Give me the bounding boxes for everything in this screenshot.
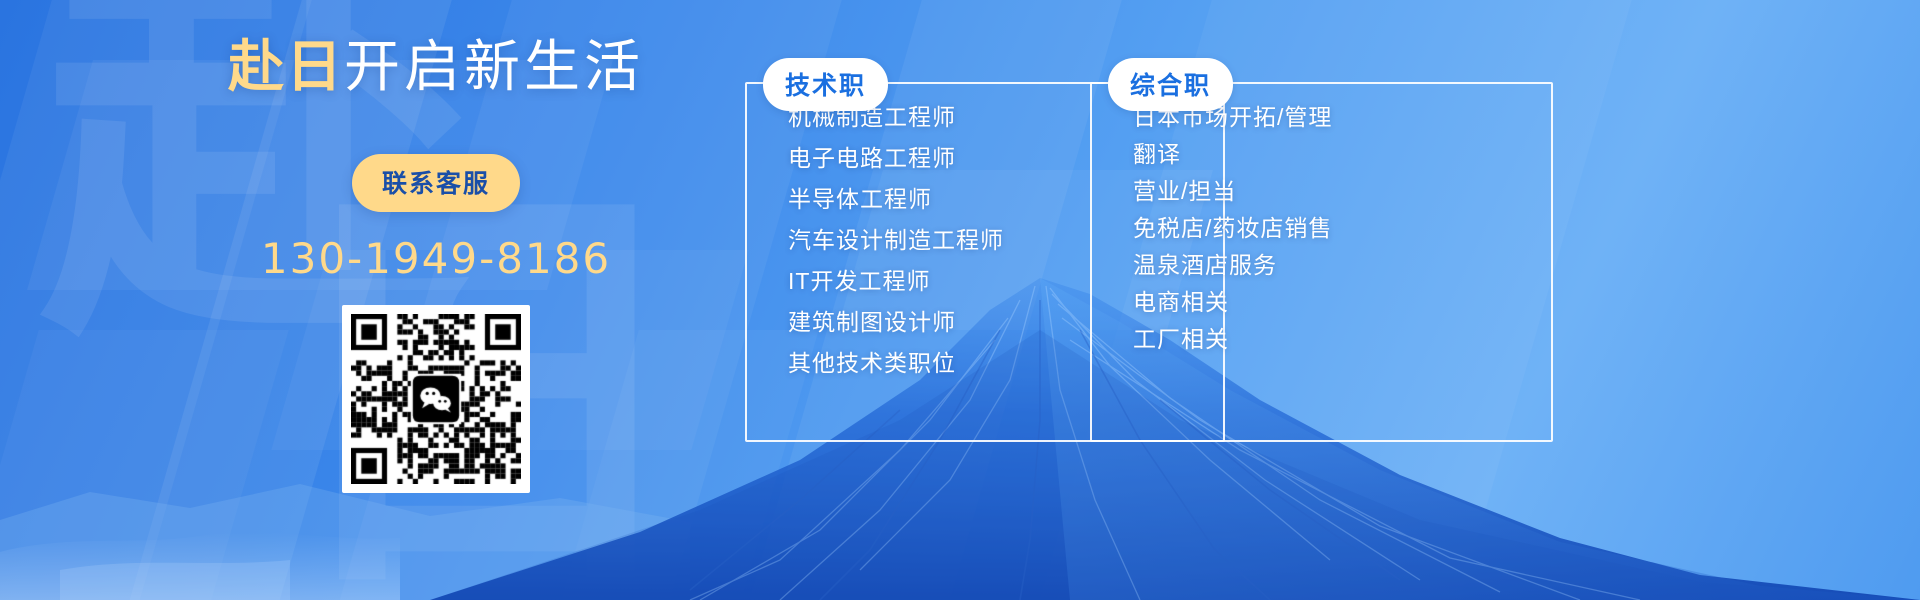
- job-list-item[interactable]: 免税店/药妆店销售: [1133, 217, 1332, 240]
- job-list-item[interactable]: 汽车设计制造工程师: [788, 229, 1004, 252]
- promo-banner: 赴 日: [0, 0, 1920, 600]
- promo-left-column: 赴日开启新生活 联系客服 130-1949-8186: [176, 36, 696, 498]
- page-title: 赴日开启新生活: [176, 36, 696, 98]
- job-group-general: 综合职 日本市场开拓/管理 翻译 营业/担当 免税店/药妆店销售 温泉酒店服务 …: [1090, 58, 1332, 365]
- job-list-item[interactable]: 翻译: [1133, 143, 1332, 166]
- job-list-item[interactable]: 建筑制图设计师: [788, 311, 1004, 334]
- headline-plain: 开启新生活: [344, 35, 644, 98]
- cta-row: 联系客服: [176, 154, 696, 212]
- job-list-item[interactable]: 工厂相关: [1133, 328, 1332, 351]
- job-list-item[interactable]: 营业/担当: [1133, 180, 1332, 203]
- job-group-badge-tech[interactable]: 技术职: [763, 58, 888, 111]
- phone-number[interactable]: 130-1949-8186: [176, 234, 696, 283]
- wechat-qr-code[interactable]: [342, 305, 530, 493]
- job-list-item[interactable]: 电商相关: [1133, 291, 1332, 314]
- job-group-tech: 技术职 机械制造工程师 电子电路工程师 半导体工程师 汽车设计制造工程师 IT开…: [745, 58, 1004, 393]
- qr-code-canvas[interactable]: [351, 314, 521, 484]
- job-list-item[interactable]: 电子电路工程师: [788, 147, 1004, 170]
- job-list-item[interactable]: 温泉酒店服务: [1133, 254, 1332, 277]
- contact-support-button[interactable]: 联系客服: [352, 154, 520, 212]
- job-group-badge-general[interactable]: 综合职: [1108, 58, 1233, 111]
- job-list-item[interactable]: 半导体工程师: [788, 188, 1004, 211]
- headline-accent: 赴日: [228, 35, 344, 98]
- job-list-item[interactable]: IT开发工程师: [788, 270, 1004, 293]
- job-list-item[interactable]: 其他技术类职位: [788, 352, 1004, 375]
